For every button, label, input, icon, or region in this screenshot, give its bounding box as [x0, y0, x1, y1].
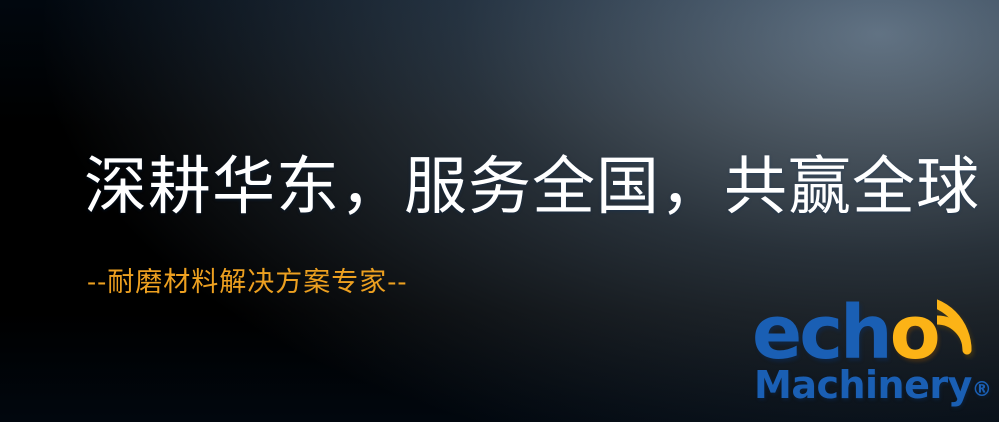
subtitle-text: --耐磨材料解决方案专家--	[87, 266, 408, 300]
company-logo[interactable]: echo Machinery®	[752, 296, 999, 422]
logo-tagline-text: Machinery	[754, 363, 972, 407]
logo-tagline: Machinery®	[754, 364, 992, 410]
logo-wordmark: echo	[752, 296, 938, 370]
headline-text: 深耕华东，服务全国，共赢全球	[84, 149, 944, 225]
registered-trademark-icon: ®	[972, 377, 992, 401]
signal-arcs-icon	[937, 298, 999, 360]
promo-banner: 深耕华东，服务全国，共赢全球 --耐磨材料解决方案专家-- echo Machi…	[0, 0, 999, 422]
